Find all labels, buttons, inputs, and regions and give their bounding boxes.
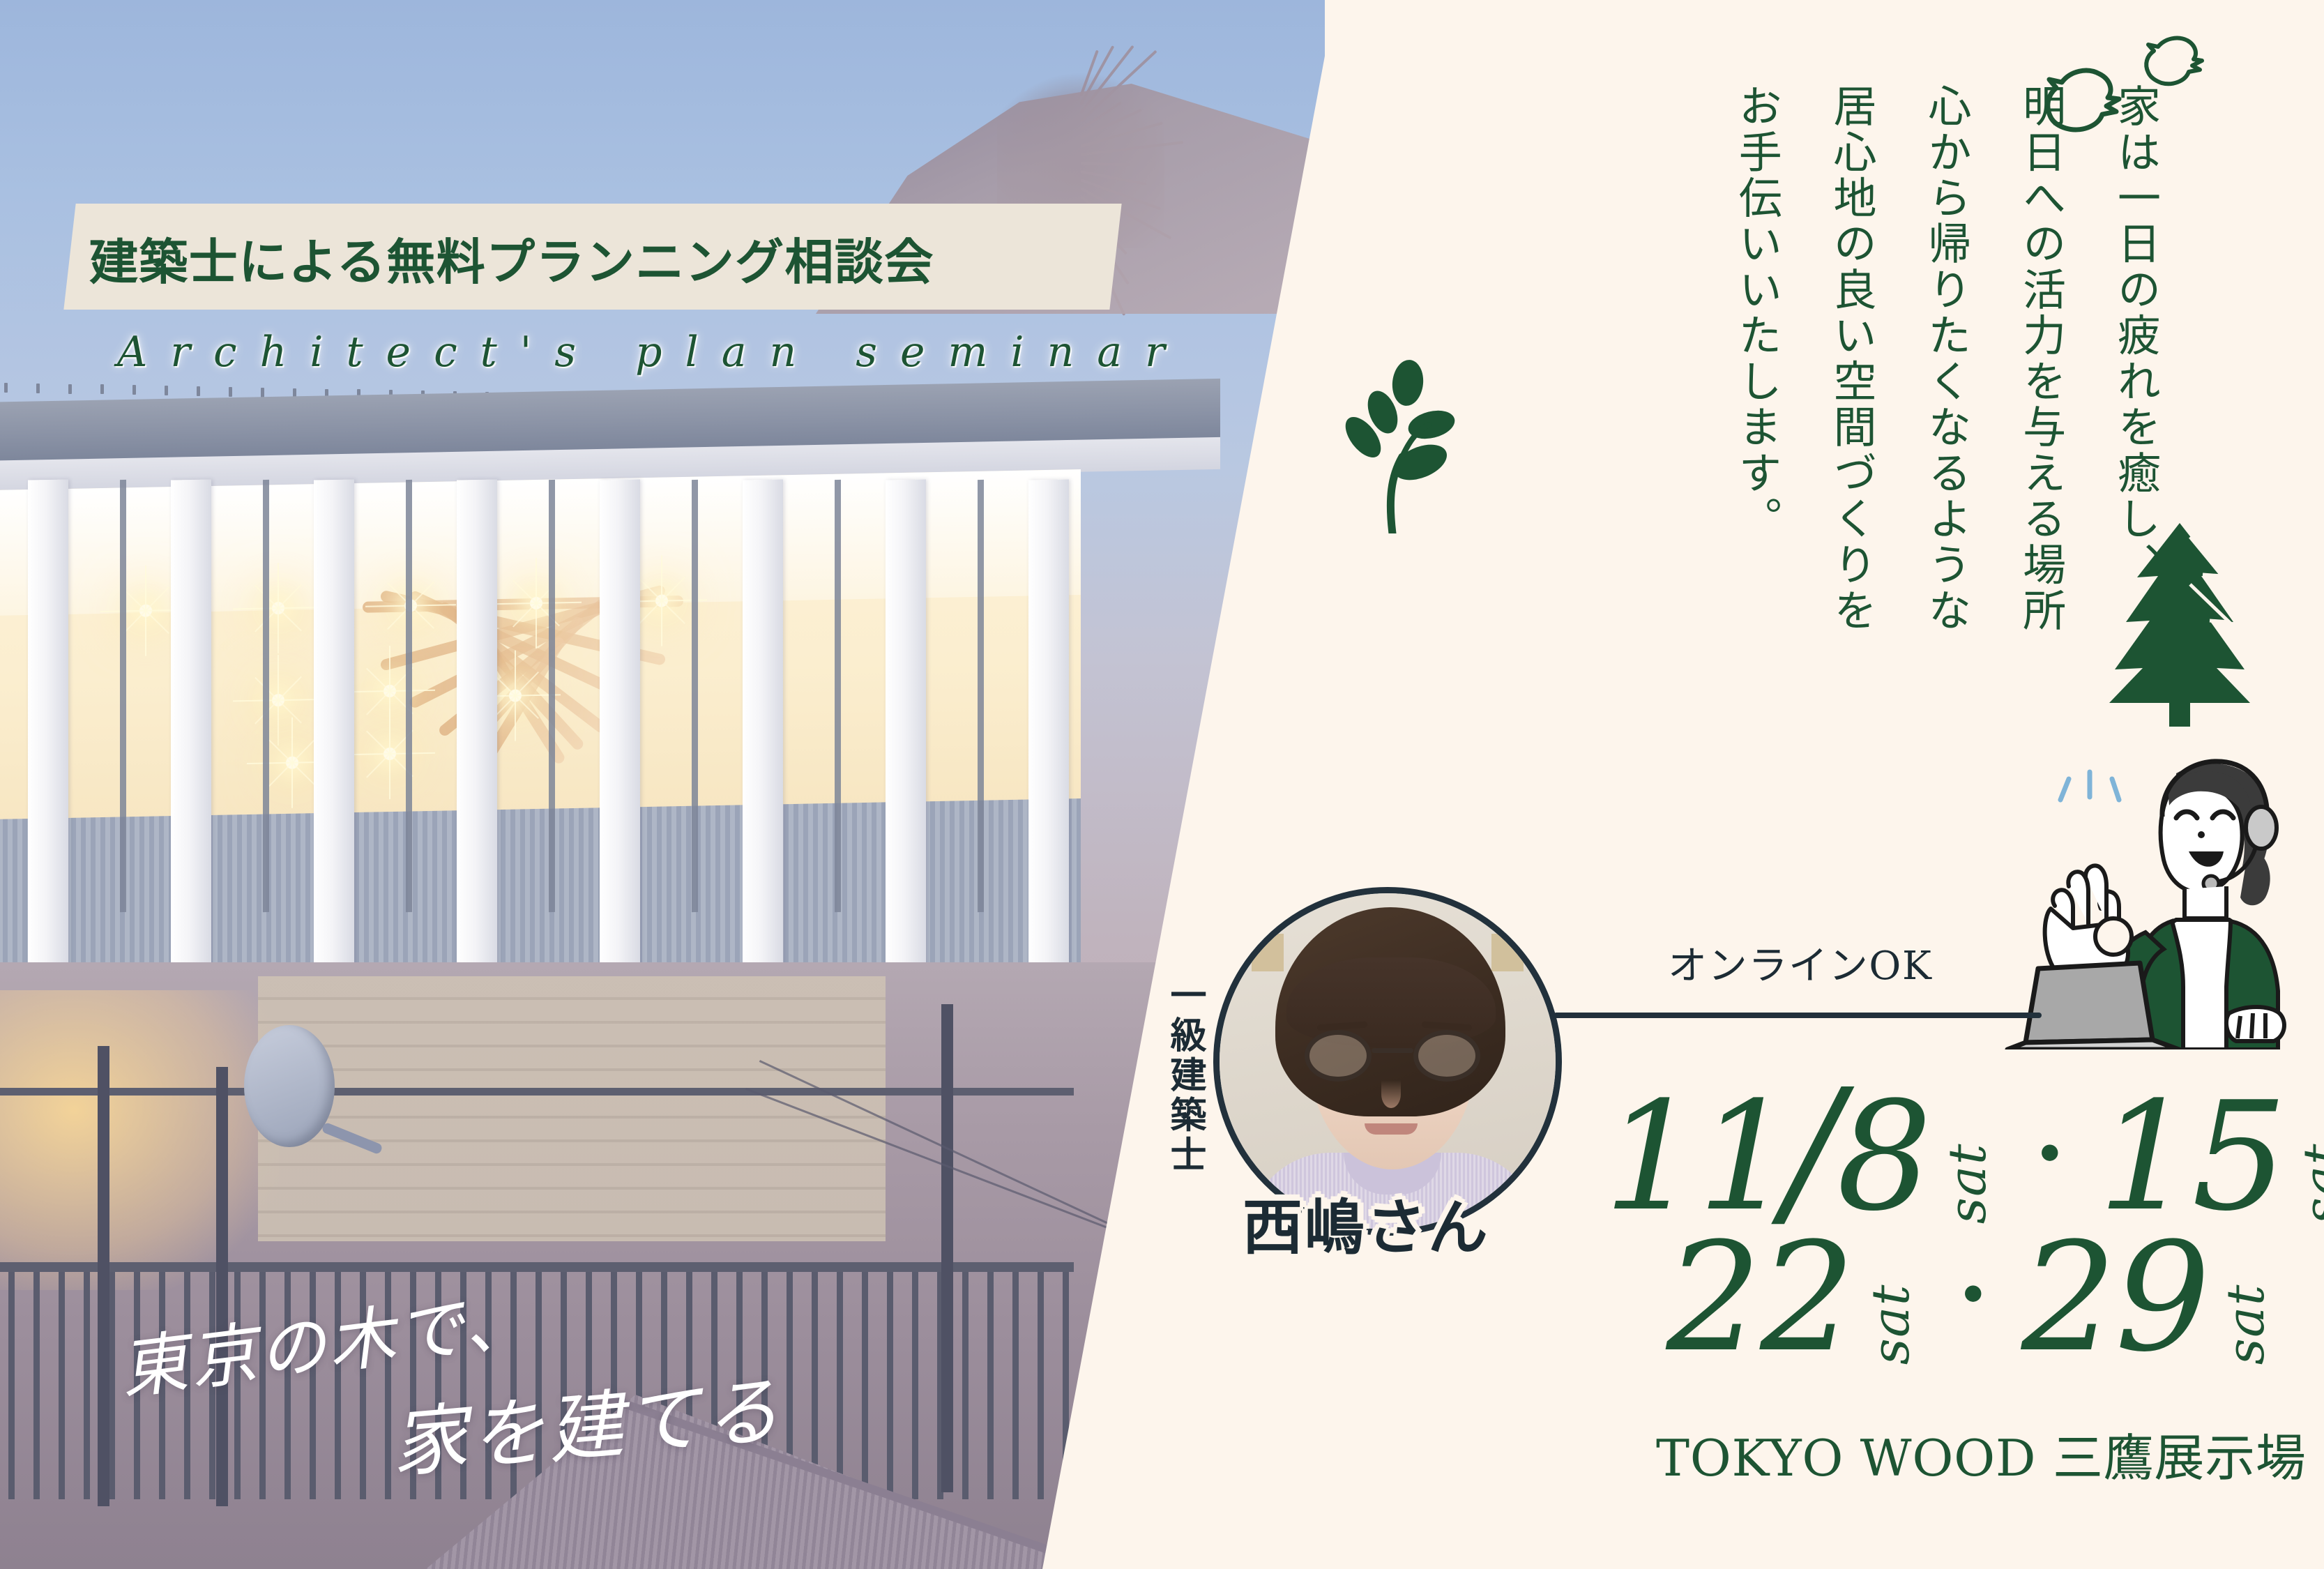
date-weekday-2: sat bbox=[2293, 1143, 2324, 1224]
portrait-mouth bbox=[1365, 1123, 1418, 1135]
promo-banner: 建築士による無料プランニング相談会 Architect's plan semin… bbox=[0, 0, 2324, 1569]
date-weekday-1: sat bbox=[1938, 1143, 1998, 1224]
date-day-3: 22 bbox=[1666, 1219, 1853, 1377]
glasses-lens-right bbox=[1413, 1030, 1480, 1082]
rail-post bbox=[216, 1067, 228, 1506]
glasses-lens-left bbox=[1305, 1030, 1372, 1082]
vertical-copy-col-2: 明日への活力を与える場所 bbox=[2012, 84, 2069, 634]
portrait-bg-notch bbox=[1491, 934, 1524, 971]
upper-rail bbox=[0, 1088, 1074, 1096]
portrait-bg-notch bbox=[1252, 934, 1284, 971]
vertical-copy: 家は一日の疲れを癒し、 明日への活力を与える場所 心から帰りたくなるような 居心… bbox=[1728, 84, 2164, 634]
satellite-dish bbox=[244, 1025, 335, 1147]
vertical-copy-col-5: お手伝いいたします。 bbox=[1728, 84, 1785, 634]
leaf-sprig-icon bbox=[1342, 359, 1485, 533]
rail-post bbox=[941, 1004, 953, 1492]
date-separator-2: ・ bbox=[1935, 1259, 2012, 1335]
connector-line bbox=[1554, 1013, 2042, 1018]
presenter-name: 西嶋さん bbox=[1243, 1178, 1489, 1266]
vertical-copy-col-3: 心から帰りたくなるような bbox=[1917, 84, 1975, 634]
interior-warm-glow bbox=[0, 990, 279, 1290]
rail-post bbox=[98, 1046, 109, 1506]
hand-rail bbox=[0, 1262, 1074, 1272]
date-row-2: 22 sat ・ 29 sat bbox=[1604, 1219, 2308, 1377]
online-operator-illustration bbox=[1996, 750, 2324, 1049]
vertical-copy-col-1: 家は一日の疲れを癒し、 bbox=[2106, 84, 2164, 634]
date-slash: / bbox=[1784, 1067, 1841, 1234]
date-weekday-4: sat bbox=[2216, 1284, 2276, 1365]
date-weekday-3: sat bbox=[1861, 1284, 1921, 1365]
glasses-bridge bbox=[1372, 1048, 1413, 1053]
headline-script: Architect's plan seminar bbox=[117, 328, 1188, 377]
portrait-glasses bbox=[1305, 1030, 1480, 1082]
presenter-qualification: 一級建築士 bbox=[1159, 976, 1211, 1176]
headline-main: 建築士による無料プランニング相談会 bbox=[89, 209, 1121, 307]
online-badge: オンラインOK bbox=[1668, 934, 1933, 991]
venue-label: TOKYO WOOD 三鷹展示場 bbox=[1656, 1417, 2307, 1490]
date-block: 11 / 8 sat ・ 15 sat 22 sat ・ 29 sat bbox=[1604, 1067, 2308, 1377]
date-day-4: 29 bbox=[2021, 1219, 2209, 1377]
vertical-copy-col-4: 居心地の良い空間づくりを bbox=[1823, 84, 1880, 634]
garage-door bbox=[258, 976, 886, 1241]
portrait-nose bbox=[1381, 1080, 1401, 1108]
date-separator-1: ・ bbox=[2012, 1118, 2088, 1195]
